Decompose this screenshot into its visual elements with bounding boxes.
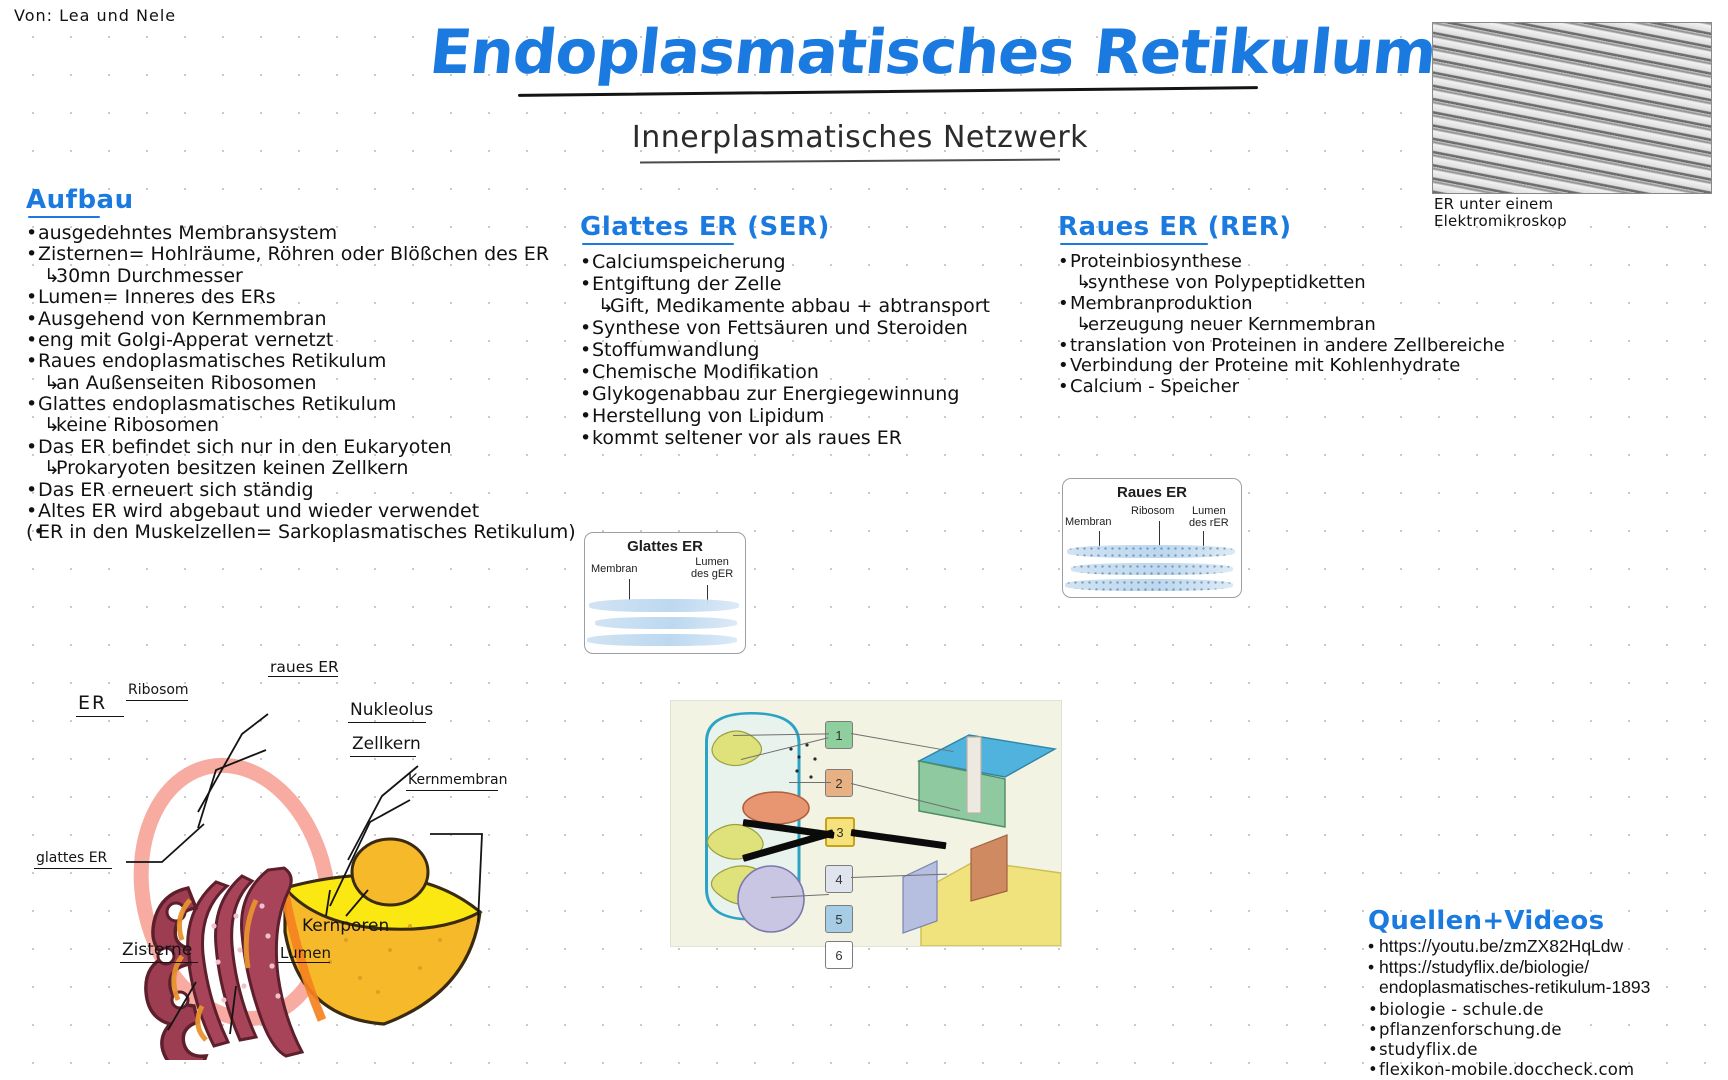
ser-label-membran: Membran <box>591 564 637 576</box>
aufbau-item: •Altes ER wird abgebaut und wieder verwe… <box>26 502 546 521</box>
source-link[interactable]: •https://studyflix.de/biologie/ endoplas… <box>1368 957 1728 998</box>
rer-tick-ribosom <box>1159 521 1160 547</box>
figure2-connector-2a <box>789 782 831 783</box>
source-item[interactable]: •flexikon-mobile.doccheck.com <box>1368 1060 1728 1080</box>
sub-arrow-icon: ↳ <box>44 459 56 478</box>
ser-item: •Synthese von Fettsäuren und Steroiden <box>580 319 1010 339</box>
drawing-label-kernmembran: Kernmembran <box>408 772 507 788</box>
rer-item-text: translation von Proteinen in andere Zell… <box>1070 337 1505 356</box>
er-drawing-title: ER <box>78 692 107 714</box>
bullet-dot-icon: • <box>1368 1000 1379 1020</box>
aufbau-item: •Das ER erneuert sich ständig <box>26 481 546 500</box>
source-item-text: studyflix.de <box>1379 1040 1478 1060</box>
bullet-dot-icon: • <box>1368 936 1379 957</box>
aufbau-item-text: keine Ribosomen <box>56 416 219 435</box>
bullet-dot-icon: • <box>1058 295 1070 314</box>
drawing-label-glattes-er: glattes ER <box>36 850 107 866</box>
sub-arrow-icon: ↳ <box>44 374 56 393</box>
bullet-dot-icon: • <box>26 224 38 243</box>
bullet-dot-icon: • <box>26 438 38 457</box>
bullet-dot-icon: • <box>1368 1040 1379 1060</box>
chimney-1 <box>967 737 981 813</box>
sources-section: Quellen+Videos •https://youtu.be/zmZX82H… <box>1368 906 1728 1080</box>
bullet-dot-icon: • <box>1058 378 1070 397</box>
ser-item: •kommt seltener vor als raues ER <box>580 429 1010 449</box>
ser-item-text: Chemische Modifikation <box>592 363 819 383</box>
drawing-underline-kernmembran <box>406 790 498 791</box>
sources-handwritten-list: •biologie - schule.de•pflanzenforschung.… <box>1368 1000 1728 1080</box>
aufbau-item: •Das ER befindet sich nur in den Eukaryo… <box>26 438 546 457</box>
bullet-dot-icon: • <box>580 407 592 427</box>
bullet-dot-icon: • <box>1368 1060 1379 1080</box>
section-aufbau: Aufbau •ausgedehntes Membransystem•Ziste… <box>26 185 546 545</box>
bullet-dot-icon: • <box>26 502 38 521</box>
er-drawing-svg <box>30 700 550 1060</box>
rer-membrane-band-3 <box>1065 579 1233 591</box>
er-cell-hand-drawing: ER raues ER Ribosom Nukleolus Zellkern K… <box>30 700 550 1060</box>
rer-item-text: Membranproduktion <box>1070 295 1253 314</box>
rer-item: •Verbindung der Proteine mit Kohlenhydra… <box>1058 357 1528 376</box>
aufbau-bullet-list: •ausgedehntes Membransystem•Zisternen= H… <box>26 224 546 543</box>
figure2-svg <box>671 701 1061 946</box>
rer-label-ribosom: Ribosom <box>1131 506 1174 518</box>
bullet-dot-icon: • <box>1058 357 1070 376</box>
drawing-label-lumen: Lumen <box>280 944 331 962</box>
ser-membrane-band-2 <box>595 617 737 629</box>
aufbau-item: ↳Prokaryoten besitzen keinen Zellkern <box>26 459 546 478</box>
drawing-label-raues-er: raues ER <box>270 658 339 676</box>
ser-item: •Herstellung von Lipidum <box>580 407 1010 427</box>
bullet-dot-icon: (• <box>26 523 38 542</box>
rer-item: •translation von Proteinen in andere Zel… <box>1058 337 1528 356</box>
drawing-underline-nukleolus <box>348 722 426 723</box>
rer-item: ↳synthese von Polypeptidketten <box>1058 274 1528 293</box>
aufbau-item-text: ausgedehntes Membransystem <box>38 224 337 243</box>
aufbau-item-text: Raues endoplasmatisches Retikulum <box>38 352 386 371</box>
bullet-dot-icon: • <box>1058 337 1070 356</box>
drawing-underline-zisterne <box>120 962 198 963</box>
rer-item-text: synthese von Polypeptidketten <box>1088 274 1366 293</box>
sub-arrow-icon: ↳ <box>44 416 56 435</box>
ser-diagram-title: Glattes ER <box>585 538 745 555</box>
subtitle-underline <box>640 159 1060 164</box>
source-item[interactable]: •studyflix.de <box>1368 1040 1728 1060</box>
ser-item: •Calciumspeicherung <box>580 253 1010 273</box>
rer-item: •Membranproduktion <box>1058 295 1528 314</box>
section-ser: Glattes ER (SER) •Calciumspeicherung•Ent… <box>580 212 1010 450</box>
drawing-label-zellkern: Zellkern <box>352 734 421 754</box>
ser-item-text: Calciumspeicherung <box>592 253 786 273</box>
aufbau-item: •Ausgehend von Kernmembran <box>26 310 546 329</box>
nucleus <box>738 866 804 932</box>
drawing-underline-zellkern <box>350 756 416 757</box>
source-link-text: https://youtu.be/zmZX82HqLdw <box>1379 936 1623 957</box>
page-title-wrapper: Endoplasmatisches Retikulum <box>430 22 1290 83</box>
aufbau-item-text: Das ER erneuert sich ständig <box>38 481 314 500</box>
ser-item: •Stoffumwandlung <box>580 341 1010 361</box>
drawing-label-ribosom: Ribosom <box>128 682 189 698</box>
aufbau-item-text: Das ER befindet sich nur in den Eukaryot… <box>38 438 452 457</box>
ser-heading-underline <box>582 243 734 245</box>
figure2-number-1[interactable]: 1 <box>825 721 853 749</box>
mitochondrion <box>743 792 809 824</box>
ser-item-text: Stoffumwandlung <box>592 341 759 361</box>
rer-heading-underline <box>1060 243 1208 245</box>
bullet-dot-icon: • <box>580 429 592 449</box>
ser-item: •Chemische Modifikation <box>580 363 1010 383</box>
aufbau-item: (•ER in den Muskelzellen= Sarkoplasmatis… <box>26 523 546 542</box>
aufbau-item-text: Prokaryoten besitzen keinen Zellkern <box>56 459 408 478</box>
rer-membrane-band-2 <box>1071 563 1233 575</box>
bullet-dot-icon: • <box>26 352 38 371</box>
drawing-underline-ribosom <box>126 700 188 701</box>
ser-item-text: Entgiftung der Zelle <box>592 275 781 295</box>
section-rer: Raues ER (RER) •Proteinbiosynthese↳synth… <box>1058 212 1528 399</box>
sources-printed-list: •https://youtu.be/zmZX82HqLdw•https://st… <box>1368 936 1728 998</box>
bullet-dot-icon: • <box>580 275 592 295</box>
rer-label-lumen: Lumen des rER <box>1189 506 1229 529</box>
er-drawing-title-underline <box>76 716 124 717</box>
rer-bullet-list: •Proteinbiosynthese↳synthese von Polypep… <box>1058 253 1528 397</box>
ser-item-text: Glykogenabbau zur Energiegewinnung <box>592 385 959 405</box>
bullet-dot-icon: • <box>26 310 38 329</box>
rer-item-text: Proteinbiosynthese <box>1070 253 1242 272</box>
rer-item-text: Verbindung der Proteine mit Kohlenhydrat… <box>1070 357 1460 376</box>
drawing-underline-lumen <box>278 962 330 963</box>
drawing-underline-raues-er <box>268 676 338 677</box>
bullet-dot-icon: • <box>1058 253 1070 272</box>
source-item[interactable]: •biologie - schule.de <box>1368 1000 1728 1020</box>
page-title: Endoplasmatisches Retikulum <box>427 22 1293 83</box>
bullet-dot-icon: • <box>26 481 38 500</box>
aufbau-item: ↳keine Ribosomen <box>26 416 546 435</box>
aufbau-item-text: Zisternen= Hohlräume, Röhren oder Blößch… <box>38 245 549 264</box>
bullet-dot-icon: • <box>580 253 592 273</box>
electron-microscope-er-photo <box>1432 22 1712 194</box>
bullet-dot-icon: • <box>26 395 38 414</box>
rer-membrane-band-1 <box>1067 545 1235 558</box>
ser-item-text: Gift, Medikamente abbau + abtransport <box>610 297 990 317</box>
section-heading-aufbau: Aufbau <box>26 185 546 215</box>
aufbau-heading-underline <box>28 216 100 218</box>
ser-item-text: kommt seltener vor als raues ER <box>592 429 902 449</box>
source-item-text: flexikon-mobile.doccheck.com <box>1379 1060 1634 1080</box>
aufbau-item: ↳an Außenseiten Ribosomen <box>26 374 546 393</box>
ser-item: •Entgiftung der Zelle <box>580 275 1010 295</box>
ser-item: ↳Gift, Medikamente abbau + abtransport <box>580 297 1010 317</box>
sub-arrow-icon: ↳ <box>1076 274 1088 293</box>
figure2-number-6[interactable]: 6 <box>825 941 853 969</box>
ser-item-text: Herstellung von Lipidum <box>592 407 824 427</box>
rer-item: ↳erzeugung neuer Kernmembran <box>1058 316 1528 335</box>
rer-diagram-box: Raues ER Membran Ribosom Lumen des rER <box>1062 478 1242 598</box>
bullet-dot-icon: • <box>1368 1020 1379 1040</box>
rer-item: •Calcium - Speicher <box>1058 378 1528 397</box>
drawing-label-zisterne: Zisterne <box>122 940 192 960</box>
aufbau-item-text: Ausgehend von Kernmembran <box>38 310 327 329</box>
aufbau-item: •Lumen= Inneres des ERs <box>26 288 546 307</box>
sub-arrow-icon: ↳ <box>1076 316 1088 335</box>
bullet-dot-icon: • <box>580 385 592 405</box>
ser-item-text: Synthese von Fettsäuren und Steroiden <box>592 319 968 339</box>
bullet-dot-icon: • <box>26 331 38 350</box>
bullet-dot-icon: • <box>26 245 38 264</box>
drawing-label-nukleolus: Nukleolus <box>350 700 433 720</box>
aufbau-item-text: an Außenseiten Ribosomen <box>56 374 316 393</box>
aufbau-item-text: Glattes endoplasmatisches Retikulum <box>38 395 396 414</box>
source-item-text: pflanzenforschung.de <box>1379 1020 1562 1040</box>
ser-membrane-band-1 <box>589 599 739 612</box>
ser-diagram-box: Glattes ER Membran Lumen des gER <box>584 532 746 654</box>
aufbau-item: ↳30mn Durchmesser <box>26 267 546 286</box>
section-heading-rer: Raues ER (RER) <box>1058 212 1528 242</box>
ser-item: •Glykogenabbau zur Energiegewinnung <box>580 385 1010 405</box>
sources-heading: Quellen+Videos <box>1368 906 1728 936</box>
ser-bullet-list: •Calciumspeicherung•Entgiftung der Zelle… <box>580 253 1010 448</box>
page-subtitle: Innerplasmatisches Netzwerk <box>430 120 1290 155</box>
aufbau-item-text: eng mit Golgi-Apperat vernetzt <box>38 331 333 350</box>
aufbau-item-text: Lumen= Inneres des ERs <box>38 288 276 307</box>
section-heading-ser: Glattes ER (SER) <box>580 212 1010 242</box>
rer-diagram-title: Raues ER <box>1063 484 1241 501</box>
figure2-number-4[interactable]: 4 <box>825 865 853 893</box>
rer-item-text: erzeugung neuer Kernmembran <box>1088 316 1376 335</box>
bullet-dot-icon: • <box>580 341 592 361</box>
aufbau-item-text: Altes ER wird abgebaut und wieder verwen… <box>38 502 479 521</box>
bullet-dot-icon: • <box>26 288 38 307</box>
source-link[interactable]: •https://youtu.be/zmZX82HqLdw <box>1368 936 1728 957</box>
figure2-number-5[interactable]: 5 <box>825 905 853 933</box>
aufbau-item-text: 30mn Durchmesser <box>56 267 243 286</box>
source-item-text: biologie - schule.de <box>1379 1000 1544 1020</box>
source-item[interactable]: •pflanzenforschung.de <box>1368 1020 1728 1040</box>
brick-building <box>971 835 1007 901</box>
rer-item-text: Calcium - Speicher <box>1070 378 1239 397</box>
drawing-underline-glattes-er <box>34 868 112 869</box>
bullet-dot-icon: • <box>580 363 592 383</box>
rer-item: •Proteinbiosynthese <box>1058 253 1528 272</box>
bullet-dot-icon: • <box>1368 957 1379 978</box>
aufbau-item: •Glattes endoplasmatisches Retikulum <box>26 395 546 414</box>
sub-arrow-icon: ↳ <box>44 267 56 286</box>
author-line: Von: Lea und Nele <box>14 6 176 25</box>
bullet-dot-icon: • <box>580 319 592 339</box>
sub-arrow-icon: ↳ <box>598 297 610 317</box>
drawing-label-kernporen: Kernporen <box>302 916 389 936</box>
ser-tick-membran <box>629 579 630 601</box>
aufbau-item: •ausgedehntes Membransystem <box>26 224 546 243</box>
rer-label-membran: Membran <box>1065 517 1111 529</box>
aufbau-item: •Zisternen= Hohlräume, Röhren oder Blößc… <box>26 245 546 264</box>
aufbau-item: •Raues endoplasmatisches Retikulum <box>26 352 546 371</box>
office-tower <box>903 861 937 933</box>
ser-label-lumen: Lumen des gER <box>691 557 733 580</box>
aufbau-item-text: ER in den Muskelzellen= Sarkoplasmatisch… <box>38 523 576 542</box>
source-link-text: https://studyflix.de/biologie/ endoplasm… <box>1379 957 1650 998</box>
cell-factory-comparison-figure: 1 2 3 4 5 6 <box>670 700 1062 947</box>
ser-membrane-band-3 <box>587 634 737 646</box>
aufbau-item: •eng mit Golgi-Apperat vernetzt <box>26 331 546 350</box>
